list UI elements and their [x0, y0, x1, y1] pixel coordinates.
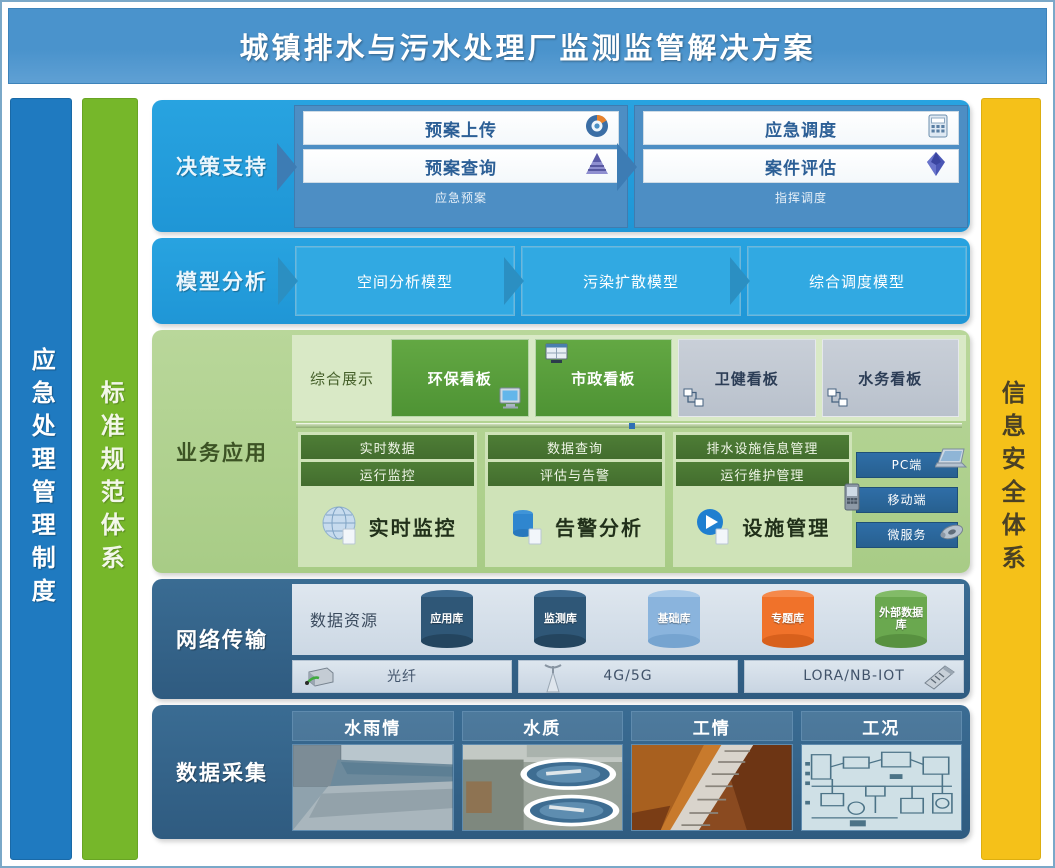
model-box-pollution-diffusion-label: 污染扩散模型	[583, 271, 679, 292]
network-link-lora-nbiot[interactable]: LORA/NB-IOT	[744, 660, 964, 693]
kanban-health[interactable]: 卫健看板	[678, 339, 816, 417]
diagram-title-bar: 城镇排水与污水处理厂监测监管解决方案	[8, 8, 1047, 84]
business-pill-operation-maintenance[interactable]: 运行维护管理	[676, 462, 849, 486]
business-pill-data-query[interactable]: 数据查询	[488, 435, 661, 459]
data-card-engineering-status[interactable]: 工情	[631, 711, 793, 831]
sidebar-information-security: 信息安全体系	[981, 98, 1041, 860]
gear-icon	[937, 519, 967, 548]
kanban-municipal-label: 市政看板	[571, 368, 635, 389]
data-resource-panel: 数据资源 应用库	[292, 584, 964, 655]
business-feature-realtime-monitoring-label: 实时监控	[369, 512, 457, 541]
model-box-integrated-dispatch[interactable]: 综合调度模型	[747, 246, 967, 316]
river-embankment-photo	[292, 744, 454, 831]
laptop-icon	[935, 446, 969, 475]
business-pill-realtime-data[interactable]: 实时数据	[301, 435, 474, 459]
business-feature-realtime-monitoring[interactable]: 实时监控	[301, 489, 474, 564]
network-icon	[683, 388, 705, 412]
device-button-pc[interactable]: PC端	[856, 452, 958, 478]
business-feature-alarm-analysis[interactable]: 告警分析	[488, 489, 661, 564]
decision-item-emergency-dispatch-label: 应急调度	[765, 116, 837, 141]
business-card-facility-management: 排水设施信息管理 运行维护管理 设施管理	[673, 432, 852, 567]
database-cylinder-external: 外部数据库	[875, 590, 927, 648]
buried-pipeline-photo	[631, 744, 793, 831]
page-title: 城镇排水与污水处理厂监测监管解决方案	[239, 25, 815, 67]
data-card-rainfall-label: 水雨情	[292, 711, 454, 741]
network-link-fiber[interactable]: 光纤	[292, 660, 512, 693]
database-cylinder-basic-label: 基础库	[648, 590, 700, 648]
model-box-spatial-analysis-label: 空间分析模型	[357, 271, 453, 292]
fiber-icon	[303, 664, 337, 694]
sidebar-emergency-policy: 应急处理管理制度	[10, 98, 72, 860]
monitor-icon	[498, 386, 524, 414]
kanban-water-affairs[interactable]: 水务看板	[822, 339, 960, 417]
data-card-water-quality[interactable]: 水质	[462, 711, 624, 831]
business-pill-drainage-facility-info[interactable]: 排水设施信息管理	[676, 435, 849, 459]
database-icon	[507, 503, 549, 551]
sidebar-information-security-label: 信息安全体系	[998, 380, 1024, 578]
diamond-icon	[922, 151, 950, 181]
kanban-health-label: 卫健看板	[715, 368, 779, 389]
layer-data-collection-label: 数据采集	[152, 705, 292, 839]
play-circle-icon	[694, 503, 736, 551]
chevron-arrow-icon	[730, 257, 750, 305]
layer-data-collection: 数据采集 水雨情	[152, 705, 970, 839]
decision-item-plan-upload-label: 预案上传	[425, 116, 497, 141]
antenna-icon	[541, 662, 565, 698]
database-slot[interactable]: 专题库	[731, 590, 845, 648]
sensor-icon	[921, 663, 959, 695]
sidebar-emergency-policy-label: 应急处理管理制度	[28, 347, 54, 611]
decision-group-emergency-plan-footer: 应急预案	[303, 187, 619, 210]
data-resource-panel-title: 数据资源	[298, 607, 390, 631]
network-link-fiber-label: 光纤	[387, 666, 417, 686]
decision-item-case-evaluation[interactable]: 案件评估	[643, 149, 959, 183]
device-button-mobile[interactable]: 移动端	[856, 487, 958, 513]
pyramid-icon	[584, 151, 610, 181]
schematic-diagram-photo	[801, 744, 963, 831]
layer-decision-support: 决策支持 预案上传	[152, 100, 970, 232]
model-box-spatial-analysis[interactable]: 空间分析模型	[295, 246, 515, 316]
layer-decision-support-label: 决策支持	[152, 100, 292, 232]
database-cylinder-application-label: 应用库	[421, 590, 473, 648]
model-box-integrated-dispatch-label: 综合调度模型	[809, 271, 905, 292]
device-button-mobile-label: 移动端	[887, 491, 926, 508]
database-slot[interactable]: 应用库	[390, 590, 504, 648]
business-card-alarm-analysis: 数据查询 评估与告警	[485, 432, 664, 567]
client-device-group: PC端 移动端	[856, 432, 964, 567]
sidebar-standard-system: 标准规范体系	[82, 98, 138, 860]
device-button-microservice[interactable]: 微服务	[856, 522, 958, 548]
data-card-rainfall[interactable]: 水雨情	[292, 711, 454, 831]
window-icon	[544, 342, 570, 370]
layer-business-application-label: 业务应用	[152, 330, 292, 573]
sedimentation-tanks-photo	[462, 744, 624, 831]
business-feature-facility-management[interactable]: 设施管理	[676, 489, 849, 564]
business-feature-alarm-analysis-label: 告警分析	[555, 512, 643, 541]
network-link-4g5g[interactable]: 4G/5G	[518, 660, 738, 693]
network-icon	[827, 388, 849, 412]
kanban-environmental-label: 环保看板	[428, 368, 492, 389]
database-slot[interactable]: 基础库	[617, 590, 731, 648]
database-cylinder-thematic-label: 专题库	[762, 590, 814, 648]
layer-model-analysis-label: 模型分析	[152, 238, 292, 324]
decision-group-command-dispatch-footer: 指挥调度	[643, 187, 959, 210]
kanban-water-affairs-label: 水务看板	[858, 368, 922, 389]
business-pill-evaluation-alarm[interactable]: 评估与告警	[488, 462, 661, 486]
data-card-operating-condition[interactable]: 工况	[801, 711, 963, 831]
lifebuoy-icon	[584, 113, 610, 143]
database-cylinder-thematic: 专题库	[762, 590, 814, 648]
layer-model-analysis: 模型分析 空间分析模型 污染扩散模型 综合调度模型	[152, 238, 970, 324]
database-cylinder-external-label: 外部数据库	[875, 590, 927, 648]
showcase-panel: 综合展示 环保看板	[292, 335, 966, 421]
database-cylinder-monitoring: 监测库	[534, 590, 586, 648]
layer-business-application: 业务应用 综合展示 环保看板	[152, 330, 970, 573]
calculator-icon	[926, 113, 950, 143]
data-card-operating-condition-label: 工况	[801, 711, 963, 741]
sidebar-standard-system-label: 标准规范体系	[97, 380, 123, 578]
kanban-municipal[interactable]: 市政看板	[535, 339, 673, 417]
device-button-pc-label: PC端	[892, 456, 923, 473]
database-slot[interactable]: 监测库	[504, 590, 618, 648]
decision-group-command-dispatch: 应急调度	[634, 105, 968, 228]
device-button-microservice-label: 微服务	[887, 526, 926, 543]
data-card-engineering-status-label: 工情	[631, 711, 793, 741]
decision-item-plan-query-label: 预案查询	[425, 154, 497, 179]
architecture-diagram: 城镇排水与污水处理厂监测监管解决方案 应急处理管理制度 标准规范体系 信息安全体…	[0, 0, 1055, 868]
layer-stack: 决策支持 预案上传	[152, 100, 970, 860]
mobile-icon	[841, 482, 863, 515]
database-cylinder-basic: 基础库	[648, 590, 700, 648]
network-link-lora-nbiot-label: LORA/NB-IOT	[803, 668, 905, 684]
business-pill-operation-monitoring[interactable]: 运行监控	[301, 462, 474, 486]
decision-item-case-evaluation-label: 案件评估	[765, 154, 837, 179]
decision-item-emergency-dispatch[interactable]: 应急调度	[643, 111, 959, 145]
showcase-panel-title: 综合展示	[296, 368, 388, 389]
layer-network-transmission: 网络传输 数据资源 应用库	[152, 579, 970, 699]
database-cylinder-application: 应用库	[421, 590, 473, 648]
database-cylinder-monitoring-label: 监测库	[534, 590, 586, 648]
chevron-arrow-icon	[504, 257, 524, 305]
database-slot[interactable]: 外部数据库	[844, 590, 958, 648]
globe-icon	[319, 503, 363, 551]
data-card-water-quality-label: 水质	[462, 711, 624, 741]
network-link-4g5g-label: 4G/5G	[603, 668, 652, 684]
decision-item-plan-query[interactable]: 预案查询	[303, 149, 619, 183]
business-card-realtime-monitoring: 实时数据 运行监控	[298, 432, 477, 567]
kanban-environmental[interactable]: 环保看板	[391, 339, 529, 417]
decision-group-emergency-plan: 预案上传 预案查询	[294, 105, 628, 228]
chevron-arrow-icon	[617, 143, 637, 191]
section-divider	[296, 423, 962, 428]
business-feature-facility-management-label: 设施管理	[742, 512, 830, 541]
decision-item-plan-upload[interactable]: 预案上传	[303, 111, 619, 145]
layer-network-transmission-label: 网络传输	[152, 579, 292, 699]
model-box-pollution-diffusion[interactable]: 污染扩散模型	[521, 246, 741, 316]
